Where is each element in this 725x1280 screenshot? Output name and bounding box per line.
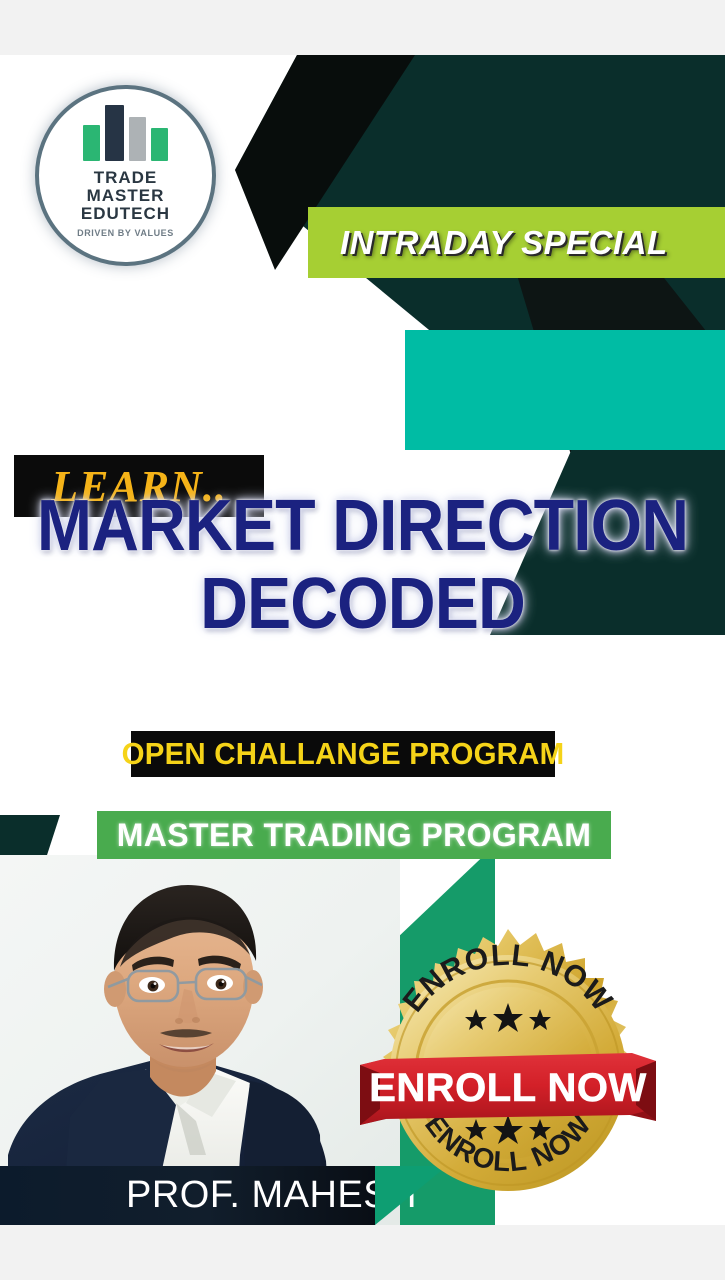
headline-line-1: MARKET DIRECTION [29, 487, 696, 565]
seal-ribbon: ENROLL NOW [360, 1053, 656, 1125]
logo-tagline: DRIVEN BY VALUES [77, 228, 174, 238]
seal-ribbon-label: ENROLL NOW [369, 1066, 647, 1110]
logo-name: TRADE MASTER EDUTECH [81, 169, 170, 223]
enroll-now-badge[interactable]: ENROLL NOW ENROLL NOW [358, 923, 658, 1223]
logo-name-line-3: EDUTECH [81, 205, 170, 223]
master-trading-program-label: MASTER TRADING PROGRAM [117, 817, 592, 854]
headline-line-2: DECODED [29, 565, 696, 643]
intraday-special-label: INTRADAY SPECIAL [340, 224, 668, 262]
brand-logo: TRADE MASTER EDUTECH DRIVEN BY VALUES [35, 85, 216, 266]
bar-chart-icon [83, 105, 168, 161]
poster-canvas: TRADE MASTER EDUTECH DRIVEN BY VALUES IN… [0, 55, 725, 1225]
master-trading-program-banner: MASTER TRADING PROGRAM [97, 811, 611, 859]
logo-name-line-1: TRADE [81, 169, 170, 187]
open-challange-program-label: OPEN CHALLANGE PROGRAM [122, 736, 565, 772]
poster-frame: TRADE MASTER EDUTECH DRIVEN BY VALUES IN… [0, 0, 725, 1280]
presenter-name-plate: PROF. MAHESH [0, 1166, 375, 1225]
intraday-special-banner: INTRADAY SPECIAL [308, 207, 725, 278]
open-challange-program-banner: OPEN CHALLANGE PROGRAM [131, 731, 555, 777]
logo-name-line-2: MASTER [81, 187, 170, 205]
page-title: MARKET DIRECTION DECODED [0, 487, 725, 643]
teal-block-shape [405, 330, 725, 450]
